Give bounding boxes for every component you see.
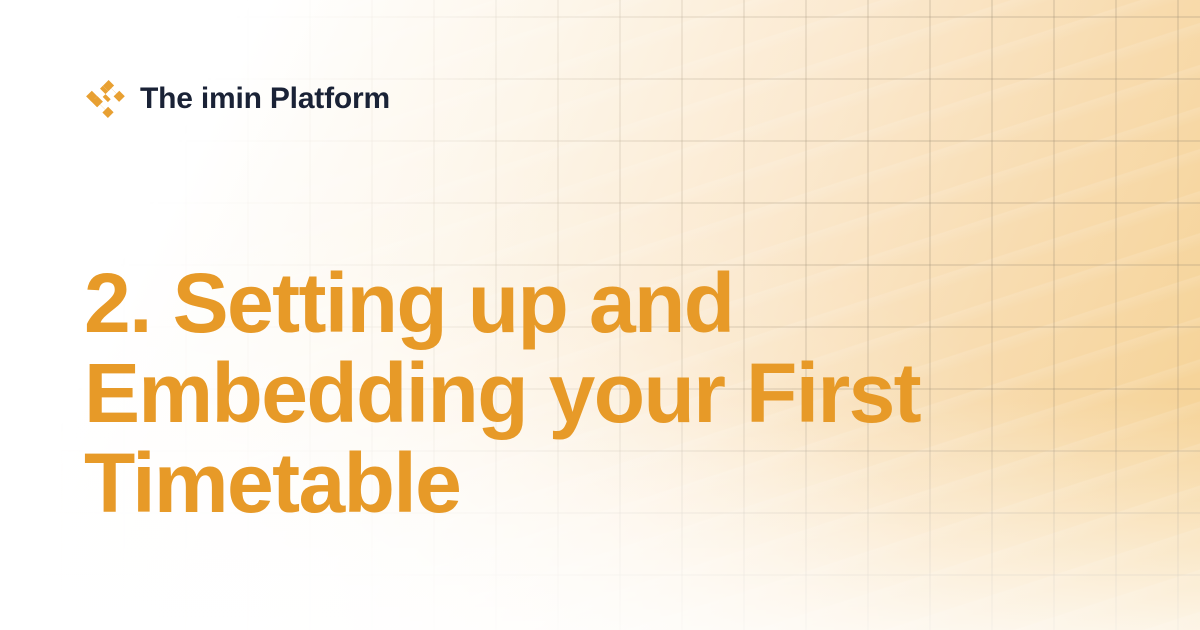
imin-chain-link-logo-icon — [80, 76, 126, 122]
page-title: 2. Setting up and Embedding your First T… — [84, 258, 1024, 528]
brand-name: The imin Platform — [140, 84, 390, 114]
social-share-card: The imin Platform 2. Setting up and Embe… — [0, 0, 1200, 630]
brand-lockup: The imin Platform — [80, 76, 390, 122]
